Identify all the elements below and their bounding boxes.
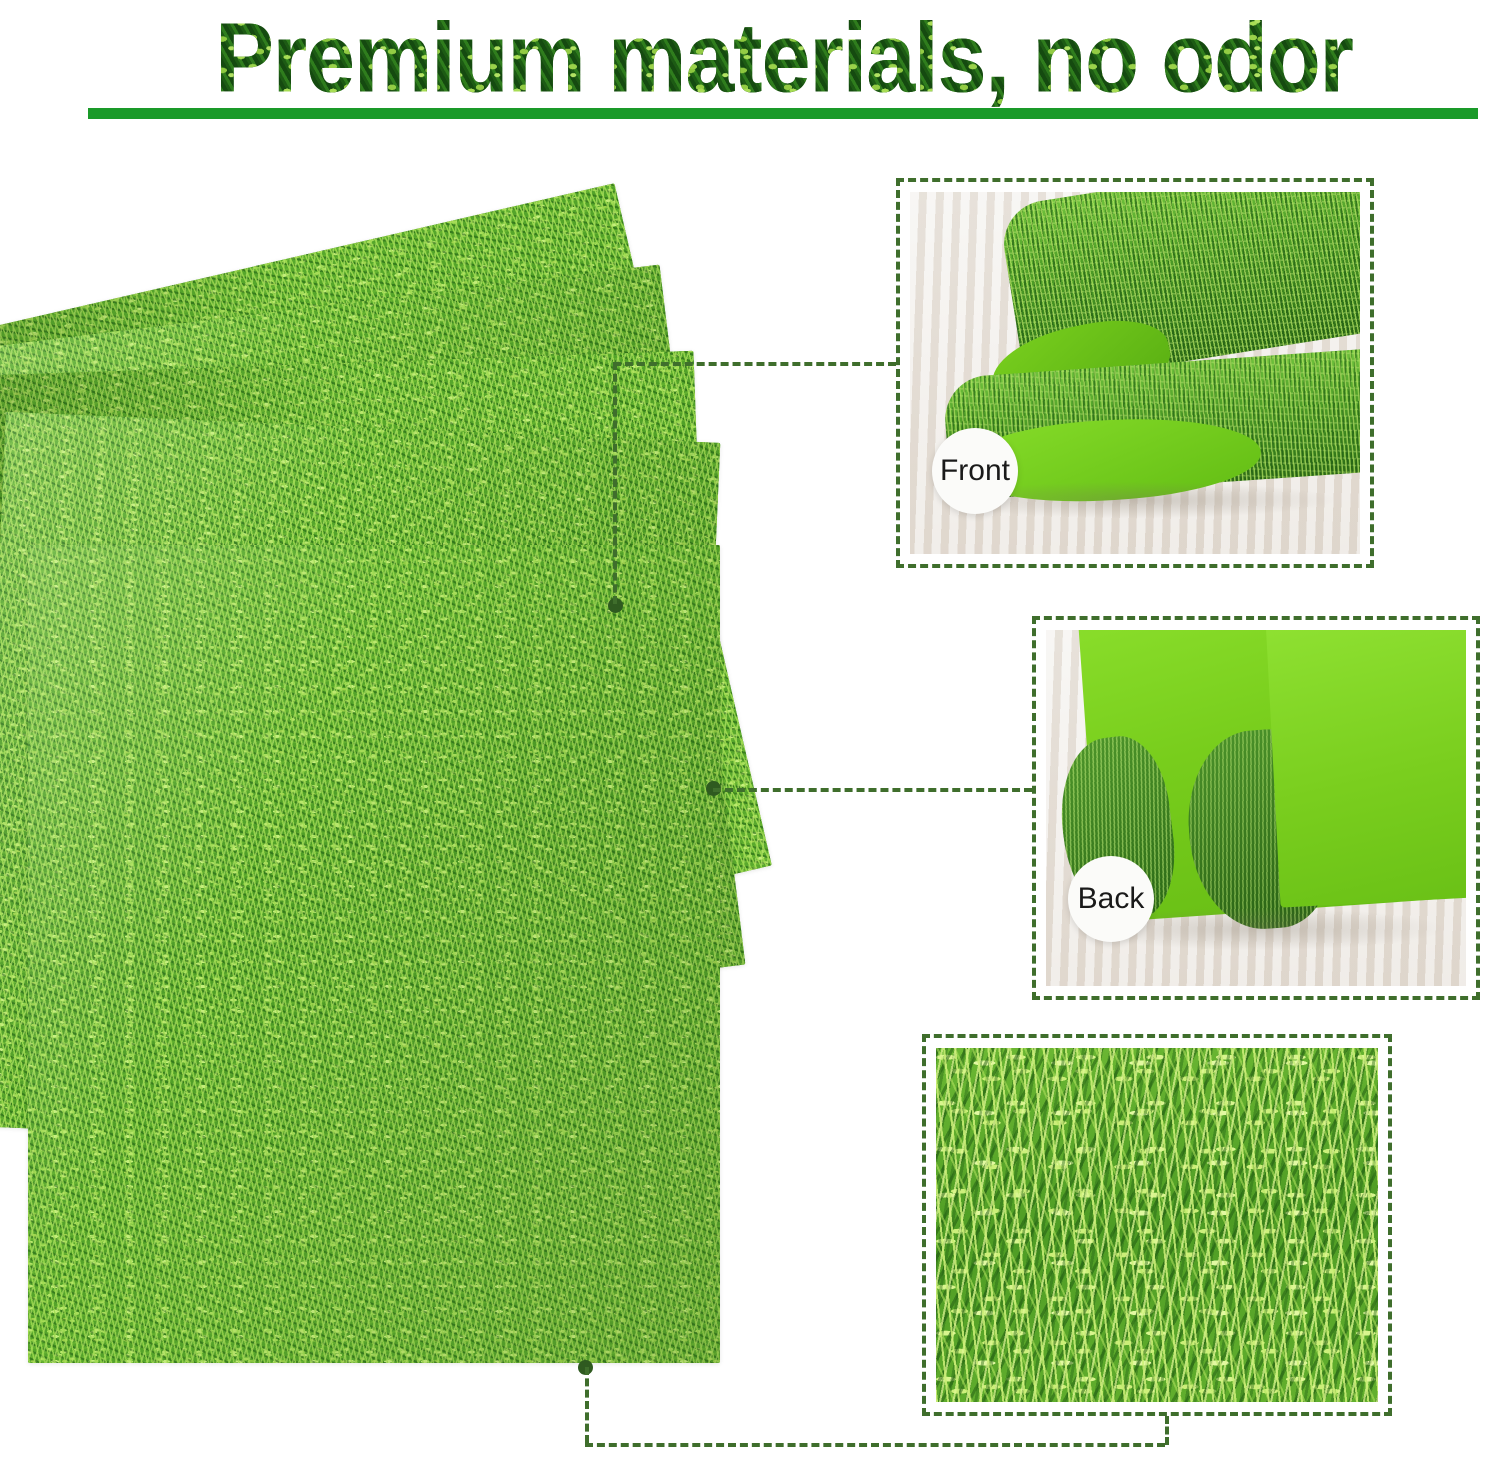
front-label-text: Front [940, 454, 1010, 488]
connector-closeup-horizontal [585, 1443, 1165, 1447]
back-label-text: Back [1078, 882, 1145, 916]
grass-mat-sheet-front [28, 545, 720, 1363]
closeup-photo [936, 1048, 1378, 1402]
title-underline-bar [88, 108, 1478, 119]
back-photo: Back [1046, 630, 1466, 986]
connector-closeup-riser [1165, 1416, 1169, 1445]
back-label-badge: Back [1068, 856, 1154, 942]
connector-front-horizontal [613, 362, 896, 366]
connector-front-vertical [613, 362, 617, 604]
turf-felt-flap [1266, 630, 1466, 907]
page-title: Premium materials, no odor [88, 2, 1480, 114]
callout-panel-back[interactable]: Back [1032, 616, 1480, 1000]
infographic-canvas: Premium materials, no odor [0, 0, 1500, 1461]
callout-panel-front[interactable]: Front [896, 178, 1374, 568]
front-label-badge: Front [932, 428, 1018, 514]
connector-back-horizontal [713, 788, 1032, 792]
callout-panel-closeup[interactable] [922, 1034, 1392, 1416]
title-banner: Premium materials, no odor [0, 0, 1500, 130]
connector-closeup-vertical [585, 1367, 589, 1443]
grass-macro-texture [936, 1048, 1378, 1402]
front-photo: Front [910, 192, 1360, 554]
grass-mat-stack [0, 245, 760, 1375]
